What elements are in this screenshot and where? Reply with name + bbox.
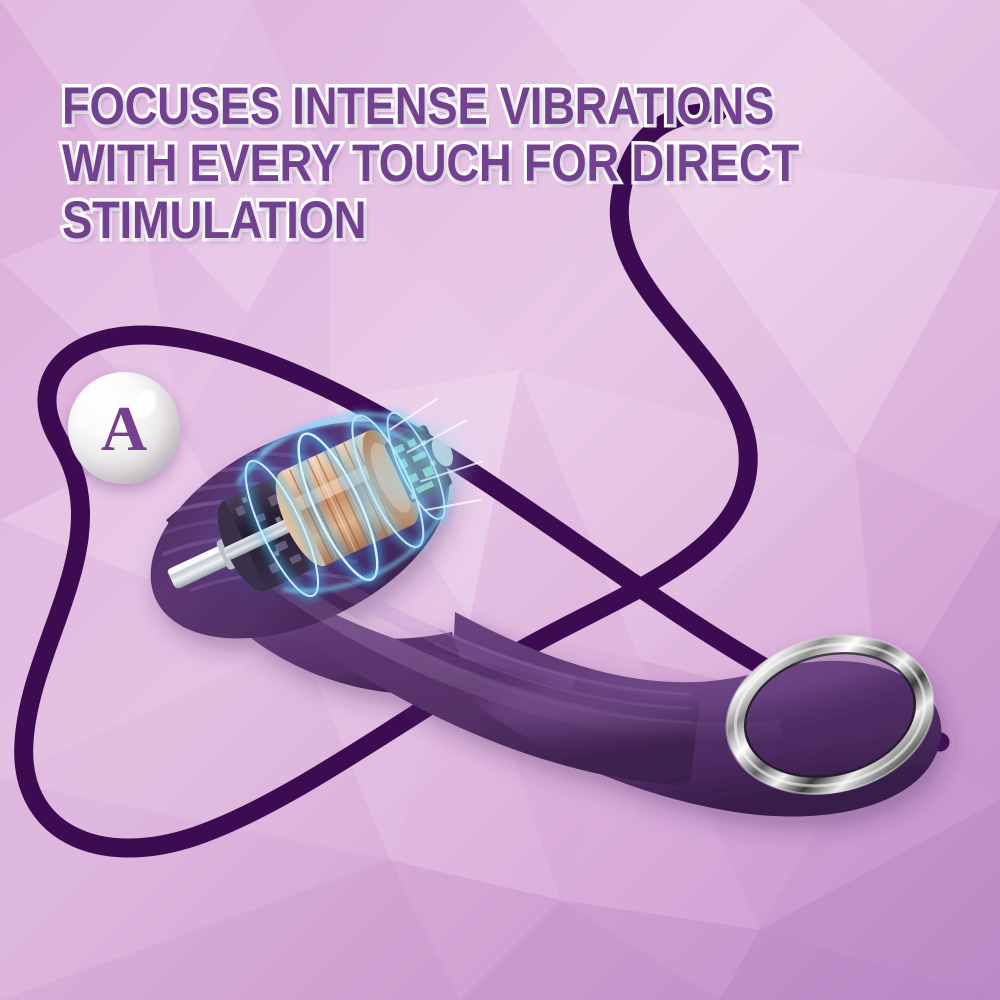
product-body bbox=[116, 377, 982, 848]
feature-graphic-canvas: FOCUSES INTENSE VIBRATIONS WITH EVERY TO… bbox=[0, 0, 1000, 1000]
callout-badge-a: A bbox=[68, 372, 180, 484]
product-illustration bbox=[0, 0, 1000, 1000]
